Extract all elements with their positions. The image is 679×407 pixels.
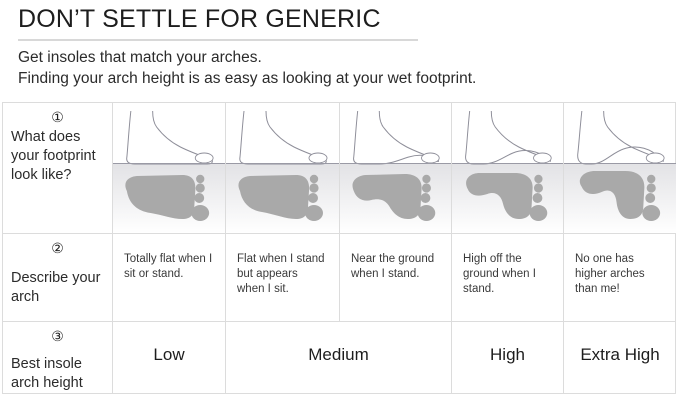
cell-arch-height-medium: Medium (226, 322, 452, 393)
table-row-best-insole: ③ Best insole arch height Low Medium Hig… (3, 322, 675, 393)
description-text-4: High off the ground when I stand. (452, 234, 563, 297)
cell-footprint-low (226, 103, 340, 233)
header: DON’T SETTLE FOR GENERIC Get insoles tha… (0, 0, 679, 89)
subtitle-line-1: Get insoles that match your arches. (18, 47, 679, 68)
cell-arch-height-high: High (452, 322, 564, 393)
page-title: DON’T SETTLE FOR GENERIC (18, 4, 679, 34)
cell-description-4: High off the ground when I stand. (452, 234, 564, 321)
arch-height-label-low: Low (113, 322, 225, 393)
high-arch-footprint-illustration (452, 103, 563, 233)
title-divider (18, 39, 418, 41)
description-cells: Totally flat when I sit or stand. Flat w… (113, 234, 675, 321)
cell-description-2: Flat when I stand but appears when I sit… (226, 234, 340, 321)
cell-description-5: No one has higher arches than me! (564, 234, 676, 321)
arch-height-label-high: High (452, 322, 563, 393)
cell-footprint-flat (113, 103, 226, 233)
step-number-1: ① (51, 109, 64, 126)
table-row-describe: ② Describe your arch Totally flat when I… (3, 234, 675, 322)
row-label-text-2: Describe your arch (11, 269, 104, 307)
step-number-2: ② (51, 240, 64, 257)
description-text-5: No one has higher arches than me! (564, 234, 676, 297)
extra-high-arch-footprint-illustration (564, 103, 676, 233)
row-label-text-1: What does your footprint look like? (11, 128, 104, 185)
cell-footprint-high (452, 103, 564, 233)
cell-arch-height-low: Low (113, 322, 226, 393)
step-number-3: ③ (51, 328, 64, 345)
table-row-footprint: ① What does your footprint look like? (3, 103, 675, 234)
description-text-2: Flat when I stand but appears when I sit… (226, 234, 339, 297)
description-text-1: Totally flat when I sit or stand. (113, 234, 225, 282)
cell-footprint-medium (340, 103, 452, 233)
arch-height-label-extra-high: Extra High (564, 322, 676, 393)
row-label-1: ① What does your footprint look like? (3, 103, 113, 233)
low-arch-footprint-illustration (226, 103, 339, 233)
cell-arch-height-extra-high: Extra High (564, 322, 676, 393)
cell-description-3: Near the ground when I stand. (340, 234, 452, 321)
description-text-3: Near the ground when I stand. (340, 234, 451, 282)
flat-footprint-illustration (113, 103, 225, 233)
subtitle-line-2: Finding your arch height is as easy as l… (18, 68, 679, 89)
arch-comparison-table: ① What does your footprint look like? (2, 102, 676, 394)
row-label-3: ③ Best insole arch height (3, 322, 113, 393)
medium-arch-footprint-illustration (340, 103, 451, 233)
cell-footprint-extra-high (564, 103, 676, 233)
cell-description-1: Totally flat when I sit or stand. (113, 234, 226, 321)
footprint-cells (113, 103, 675, 233)
arch-height-label-medium: Medium (226, 322, 451, 393)
infographic-page: DON’T SETTLE FOR GENERIC Get insoles tha… (0, 0, 679, 407)
arch-height-cells: Low Medium High Extra High (113, 322, 675, 393)
row-label-text-3: Best insole arch height (11, 355, 104, 393)
row-label-2: ② Describe your arch (3, 234, 113, 321)
